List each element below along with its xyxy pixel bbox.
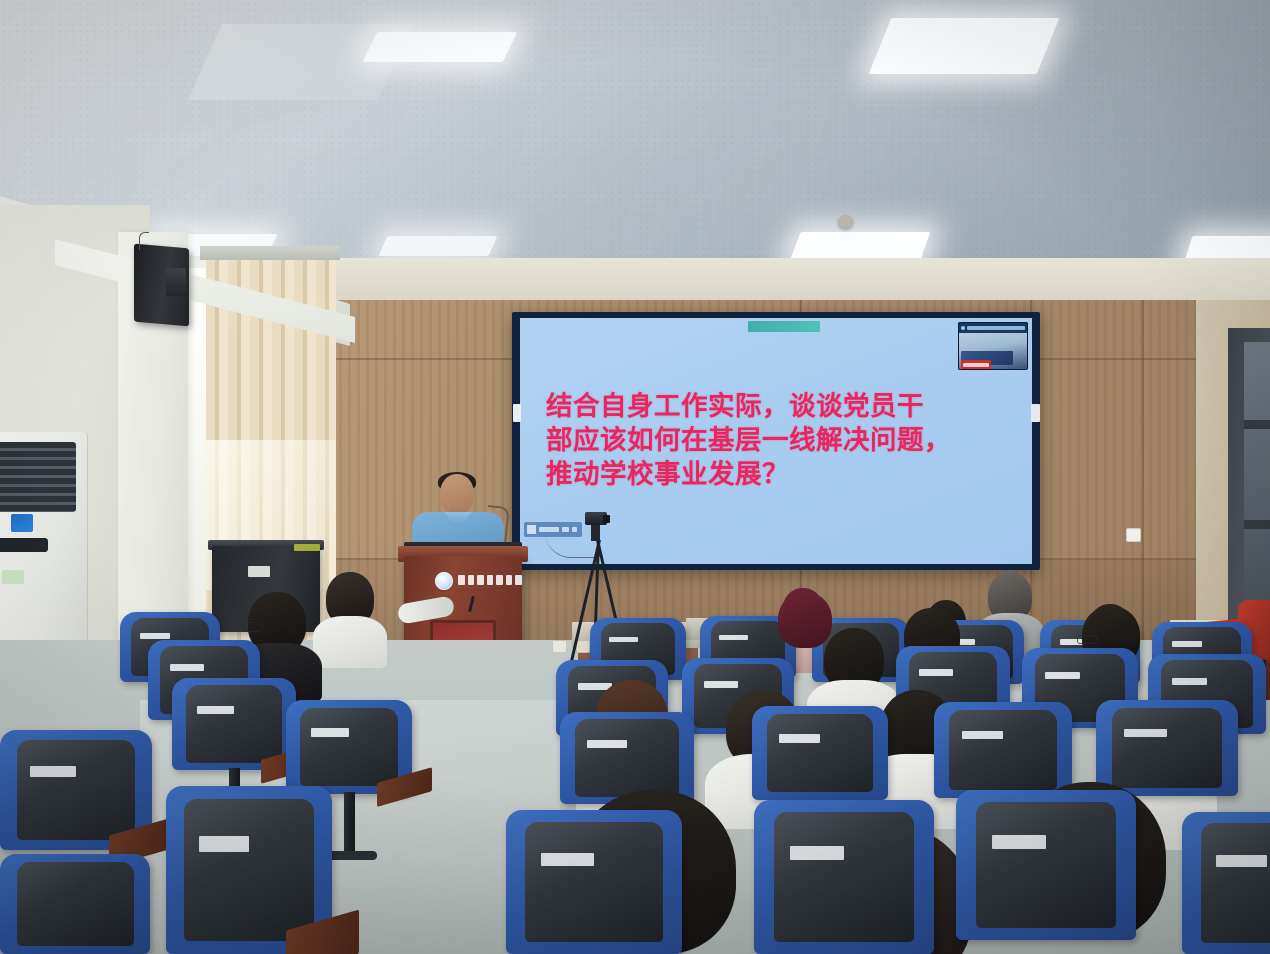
ac-brand-label bbox=[11, 514, 33, 532]
ceiling-light-panel bbox=[379, 236, 498, 256]
speaker-driver-icon bbox=[166, 268, 186, 296]
seat-number-tag bbox=[1124, 729, 1167, 738]
seat-number-tag bbox=[587, 740, 627, 748]
seat-cushion bbox=[976, 802, 1116, 928]
audience-person bbox=[988, 572, 1032, 622]
seat-number-tag bbox=[1045, 672, 1080, 679]
ac-sticker bbox=[2, 570, 24, 584]
seat-cushion bbox=[17, 862, 134, 946]
seat-number-tag bbox=[197, 706, 234, 714]
pip-video-window[interactable] bbox=[958, 322, 1028, 370]
seat[interactable] bbox=[172, 678, 296, 770]
ceiling-light-panel bbox=[869, 18, 1060, 74]
eyeglasses-icon bbox=[1077, 635, 1097, 645]
seat[interactable] bbox=[956, 790, 1136, 940]
upper-wall-band bbox=[330, 258, 1270, 306]
wall-socket-icon[interactable] bbox=[552, 640, 567, 653]
seat-cushion bbox=[300, 708, 398, 787]
seat-number-tag bbox=[962, 731, 1003, 740]
seat[interactable] bbox=[0, 730, 152, 850]
seat-number-tag bbox=[30, 766, 76, 777]
seat-cushion bbox=[184, 799, 313, 940]
pip-dot-icon bbox=[961, 326, 965, 330]
seat-number-tag bbox=[790, 846, 844, 860]
seat-cushion bbox=[774, 812, 914, 941]
wall-socket-icon[interactable] bbox=[576, 640, 590, 653]
pip-title-bar bbox=[959, 323, 1027, 333]
taskbar-app-icon[interactable] bbox=[527, 525, 536, 534]
seat-number-tag bbox=[992, 835, 1046, 849]
seat[interactable] bbox=[754, 800, 934, 954]
seat-number-tag bbox=[140, 633, 170, 639]
seat-number-tag bbox=[541, 853, 594, 866]
tripod-head bbox=[591, 525, 600, 541]
seat-number-tag bbox=[609, 637, 638, 643]
podium-nameplate bbox=[458, 573, 522, 587]
seat-number-tag bbox=[1216, 855, 1267, 868]
camera-lens-icon bbox=[603, 515, 610, 523]
slide-text-line-1: 结合自身工作实际，谈谈党员干 bbox=[546, 390, 1016, 424]
light-switch-plate[interactable] bbox=[1126, 528, 1141, 542]
seat-cushion bbox=[17, 740, 136, 841]
seat-cushion bbox=[1201, 823, 1270, 942]
slide-text: 结合自身工作实际，谈谈党员干 部应该如何在基层一线解决问题， 推动学校事业发展？ bbox=[546, 390, 1016, 492]
pip-title-text bbox=[967, 326, 1025, 330]
pip-badge-text bbox=[963, 363, 989, 367]
ceiling-light-panel bbox=[363, 32, 518, 62]
pip-watermark-badge bbox=[961, 360, 991, 369]
seat[interactable] bbox=[752, 706, 888, 800]
audience-person bbox=[326, 572, 374, 626]
seat[interactable] bbox=[1182, 812, 1270, 954]
cabinet-tape-strip bbox=[294, 544, 320, 551]
school-crest-icon bbox=[435, 572, 453, 590]
seat-number-tag bbox=[1172, 641, 1202, 647]
ac-grill-icon bbox=[0, 442, 76, 512]
seat-number-tag bbox=[199, 836, 249, 851]
seat[interactable] bbox=[286, 700, 412, 794]
slide-text-line-3: 推动学校事业发展？ bbox=[546, 458, 1016, 492]
slide-top-banner bbox=[748, 321, 820, 332]
cabinet-label bbox=[248, 566, 270, 577]
door-glass bbox=[1244, 342, 1270, 612]
seat-cushion bbox=[525, 822, 662, 943]
screen-mount-clip-right bbox=[1031, 404, 1040, 422]
ac-vent-icon bbox=[0, 538, 48, 552]
seat[interactable] bbox=[0, 854, 150, 954]
seat-number-tag bbox=[779, 734, 820, 742]
door-crossbar bbox=[1244, 520, 1270, 529]
screen-mount-clip-left bbox=[513, 404, 521, 422]
seat-number-tag bbox=[311, 728, 349, 736]
seat-number-tag bbox=[170, 664, 204, 671]
smoke-detector-icon bbox=[838, 215, 853, 228]
seat-number-tag bbox=[704, 681, 738, 688]
seat-number-tag bbox=[1172, 678, 1207, 685]
seat-number-tag bbox=[719, 635, 748, 641]
seat-cushion bbox=[575, 719, 680, 796]
person-shoulders bbox=[313, 616, 388, 668]
seat-cushion bbox=[949, 710, 1057, 791]
seat-cushion bbox=[767, 714, 873, 793]
seat-number-tag bbox=[919, 669, 953, 676]
door-crossbar bbox=[1244, 420, 1270, 429]
eyeglasses-icon bbox=[243, 622, 263, 632]
microphone-gooseneck bbox=[484, 505, 510, 545]
speaker-mount-wire bbox=[139, 232, 149, 250]
auditorium-photo: 结合自身工作实际，谈谈党员干 部应该如何在基层一线解决问题， 推动学校事业发展？ bbox=[0, 0, 1270, 954]
audience-person bbox=[824, 628, 884, 692]
seat[interactable] bbox=[506, 810, 682, 954]
seat-cushion bbox=[186, 685, 283, 762]
seat-leg bbox=[344, 792, 355, 852]
slide-text-line-2: 部应该如何在基层一线解决问题， bbox=[546, 424, 1016, 458]
seat-cushion bbox=[1112, 708, 1223, 789]
seat[interactable] bbox=[166, 786, 332, 954]
curtain-rail bbox=[200, 246, 340, 260]
